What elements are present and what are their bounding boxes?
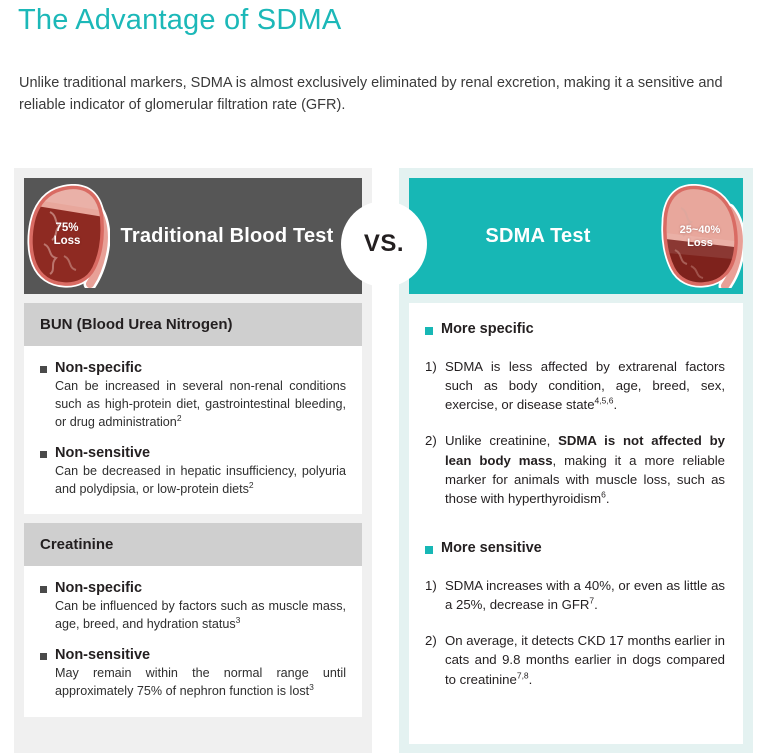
creatinine-point-non-sensitive-text: May remain within the normal range until… [40, 665, 346, 701]
reference-marker: 2 [177, 413, 182, 423]
kidney-25-40-percent-loss-icon: 25~40% Loss [657, 184, 743, 288]
reference-marker: 7,8 [517, 670, 529, 680]
traditional-blood-test-card: 75% Loss Traditional Blood Test BUN (Blo… [14, 168, 372, 753]
traditional-card-title: Traditional Blood Test [110, 225, 362, 248]
bun-point-non-specific-text: Can be increased in several non-renal co… [40, 378, 346, 432]
sdma-sensitive-item-1: 1) SDMA increases with a 40%, or even as… [425, 576, 725, 614]
reference-marker: 3 [309, 682, 314, 692]
page-title: The Advantage of SDMA [18, 4, 341, 37]
kidney-75-percent-loss-icon: 75% Loss [24, 184, 110, 288]
sdma-sensitive-item-2: 2) On average, it detects CKD 17 months … [425, 631, 725, 688]
list-text: SDMA increases with a 40%, or even as li… [445, 576, 725, 614]
bun-point-non-specific: Non-specific Can be increased in several… [40, 360, 346, 432]
creatinine-point-non-sensitive: Non-sensitive May remain within the norm… [40, 647, 346, 701]
comparison-container: 75% Loss Traditional Blood Test BUN (Blo… [0, 160, 767, 754]
list-text: SDMA is less affected by extrarenal fact… [445, 357, 725, 414]
list-number: 1) [425, 576, 445, 614]
section-bun: BUN (Blood Urea Nitrogen) Non-specific C… [24, 303, 362, 514]
section-bun-body: Non-specific Can be increased in several… [24, 346, 362, 514]
reference-marker: 3 [236, 615, 241, 625]
sdma-test-card: SDMA Test [399, 168, 753, 753]
bun-point-non-sensitive: Non-sensitive Can be decreased in hepati… [40, 445, 346, 499]
bun-point-non-sensitive-text: Can be decreased in hepatic insufficienc… [40, 463, 346, 499]
list-number: 1) [425, 357, 445, 414]
reference-marker: 4,5,6 [595, 396, 614, 406]
creatinine-point-non-sensitive-title: Non-sensitive [40, 647, 346, 663]
list-number: 2) [425, 431, 445, 508]
page-intro-paragraph: Unlike traditional markers, SDMA is almo… [19, 72, 754, 117]
sdma-card-body: More specific 1) SDMA is less affected b… [409, 303, 743, 744]
traditional-card-header: 75% Loss Traditional Blood Test [24, 178, 362, 294]
reference-marker: 2 [249, 479, 254, 489]
list-text: On average, it detects CKD 17 months ear… [445, 631, 725, 688]
sdma-specific-item-2: 2) Unlike creatinine, SDMA is not affect… [425, 431, 725, 508]
bun-point-non-sensitive-title: Non-sensitive [40, 445, 346, 461]
creatinine-point-non-specific-title: Non-specific [40, 580, 346, 596]
sdma-card-title: SDMA Test [409, 225, 657, 248]
section-creatinine: Creatinine Non-specific Can be influence… [24, 523, 362, 717]
sdma-group-more-sensitive-heading: More sensitive [425, 540, 725, 556]
sdma-group-more-specific-heading: More specific [425, 321, 725, 337]
list-number: 2) [425, 631, 445, 688]
sdma-specific-item-1: 1) SDMA is less affected by extrarenal f… [425, 357, 725, 414]
creatinine-point-non-specific: Non-specific Can be influenced by factor… [40, 580, 346, 634]
list-text: Unlike creatinine, SDMA is not affected … [445, 431, 725, 508]
creatinine-point-non-specific-text: Can be influenced by factors such as mus… [40, 598, 346, 634]
section-creatinine-heading: Creatinine [24, 523, 362, 566]
bun-point-non-specific-title: Non-specific [40, 360, 346, 376]
vs-badge: VS. [341, 201, 427, 287]
sdma-card-header: SDMA Test [409, 178, 743, 294]
section-bun-heading: BUN (Blood Urea Nitrogen) [24, 303, 362, 346]
section-creatinine-body: Non-specific Can be influenced by factor… [24, 566, 362, 717]
